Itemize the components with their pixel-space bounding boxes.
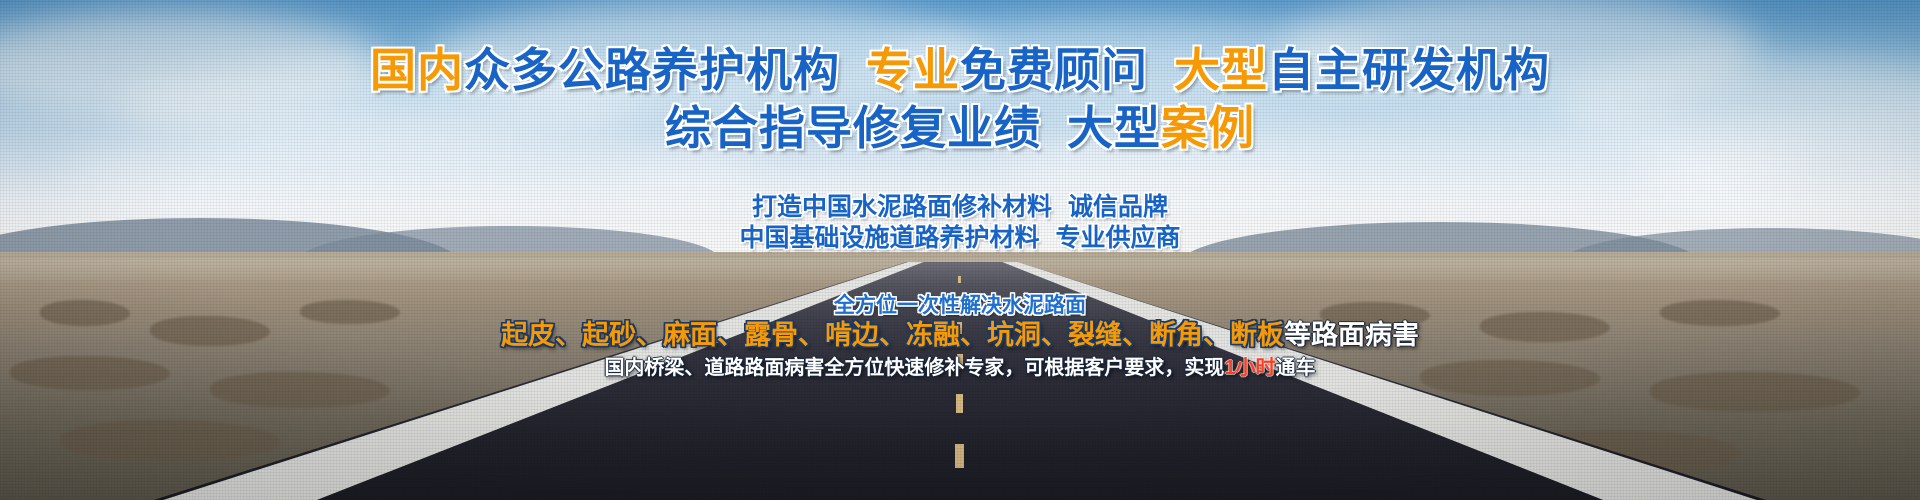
headline-1-seg-2: 众多公路养护机构 [464,44,840,96]
promo-banner: 国内众多公路养护机构专业免费顾问大型自主研发机构 综合指导修复业绩大型案例 打造… [0,0,1920,500]
subtitle-1-text-b: 诚信品牌 [1068,193,1168,221]
headline-1-seg-6: 自主研发机构 [1268,44,1550,96]
bottom-3-text-a: 国内桥梁、道路路面病害全方位快速修补专家，可根据客户要求，实现 [604,357,1224,379]
headline-1-seg-1: 国内 [370,44,464,96]
headline-1-seg-3: 专业 [866,44,960,96]
headline-2-seg-1: 综合指导修复业绩 [665,102,1041,154]
subtitle-2-text-a: 中国基础设施道路养护材料 [739,224,1039,252]
headline-1-seg-4: 免费顾问 [960,44,1148,96]
bottom-3-text-b: 通车 [1276,357,1316,379]
subtitle-1-text-a: 打造中国水泥路面修补材料 [752,193,1052,221]
headline-2-seg-2: 大型 [1067,102,1161,154]
bottom-line-3: 国内桥梁、道路路面病害全方位快速修补专家，可根据客户要求，实现1小时通车 [0,355,1920,381]
bottom-2-suffix: 等路面病害 [1284,320,1419,350]
headline-line-2: 综合指导修复业绩大型案例 [0,102,1920,154]
bottom-3-highlight: 1小时 [1224,357,1275,379]
subtitle-line-2: 中国基础设施道路养护材料专业供应商 [0,223,1920,254]
banner-text-content: 国内众多公路养护机构专业免费顾问大型自主研发机构 综合指导修复业绩大型案例 打造… [0,0,1920,500]
bottom-line-2: 起皮、起砂、麻面、露骨、啃边、冻融、坑洞、裂缝、断角、断板等路面病害 [0,318,1920,352]
headline-1-seg-5: 大型 [1174,44,1268,96]
bottom-2-diseases: 起皮、起砂、麻面、露骨、啃边、冻融、坑洞、裂缝、断角、断板 [501,320,1284,350]
subtitle-2-text-b: 专业供应商 [1056,224,1181,252]
headline-line-1: 国内众多公路养护机构专业免费顾问大型自主研发机构 [0,44,1920,96]
bottom-line-1: 全方位一次性解决水泥路面 [0,293,1920,319]
bottom-1-text: 全方位一次性解决水泥路面 [834,294,1086,317]
subtitle-line-1: 打造中国水泥路面修补材料诚信品牌 [0,192,1920,223]
headline-2-seg-3: 案例 [1161,102,1255,154]
